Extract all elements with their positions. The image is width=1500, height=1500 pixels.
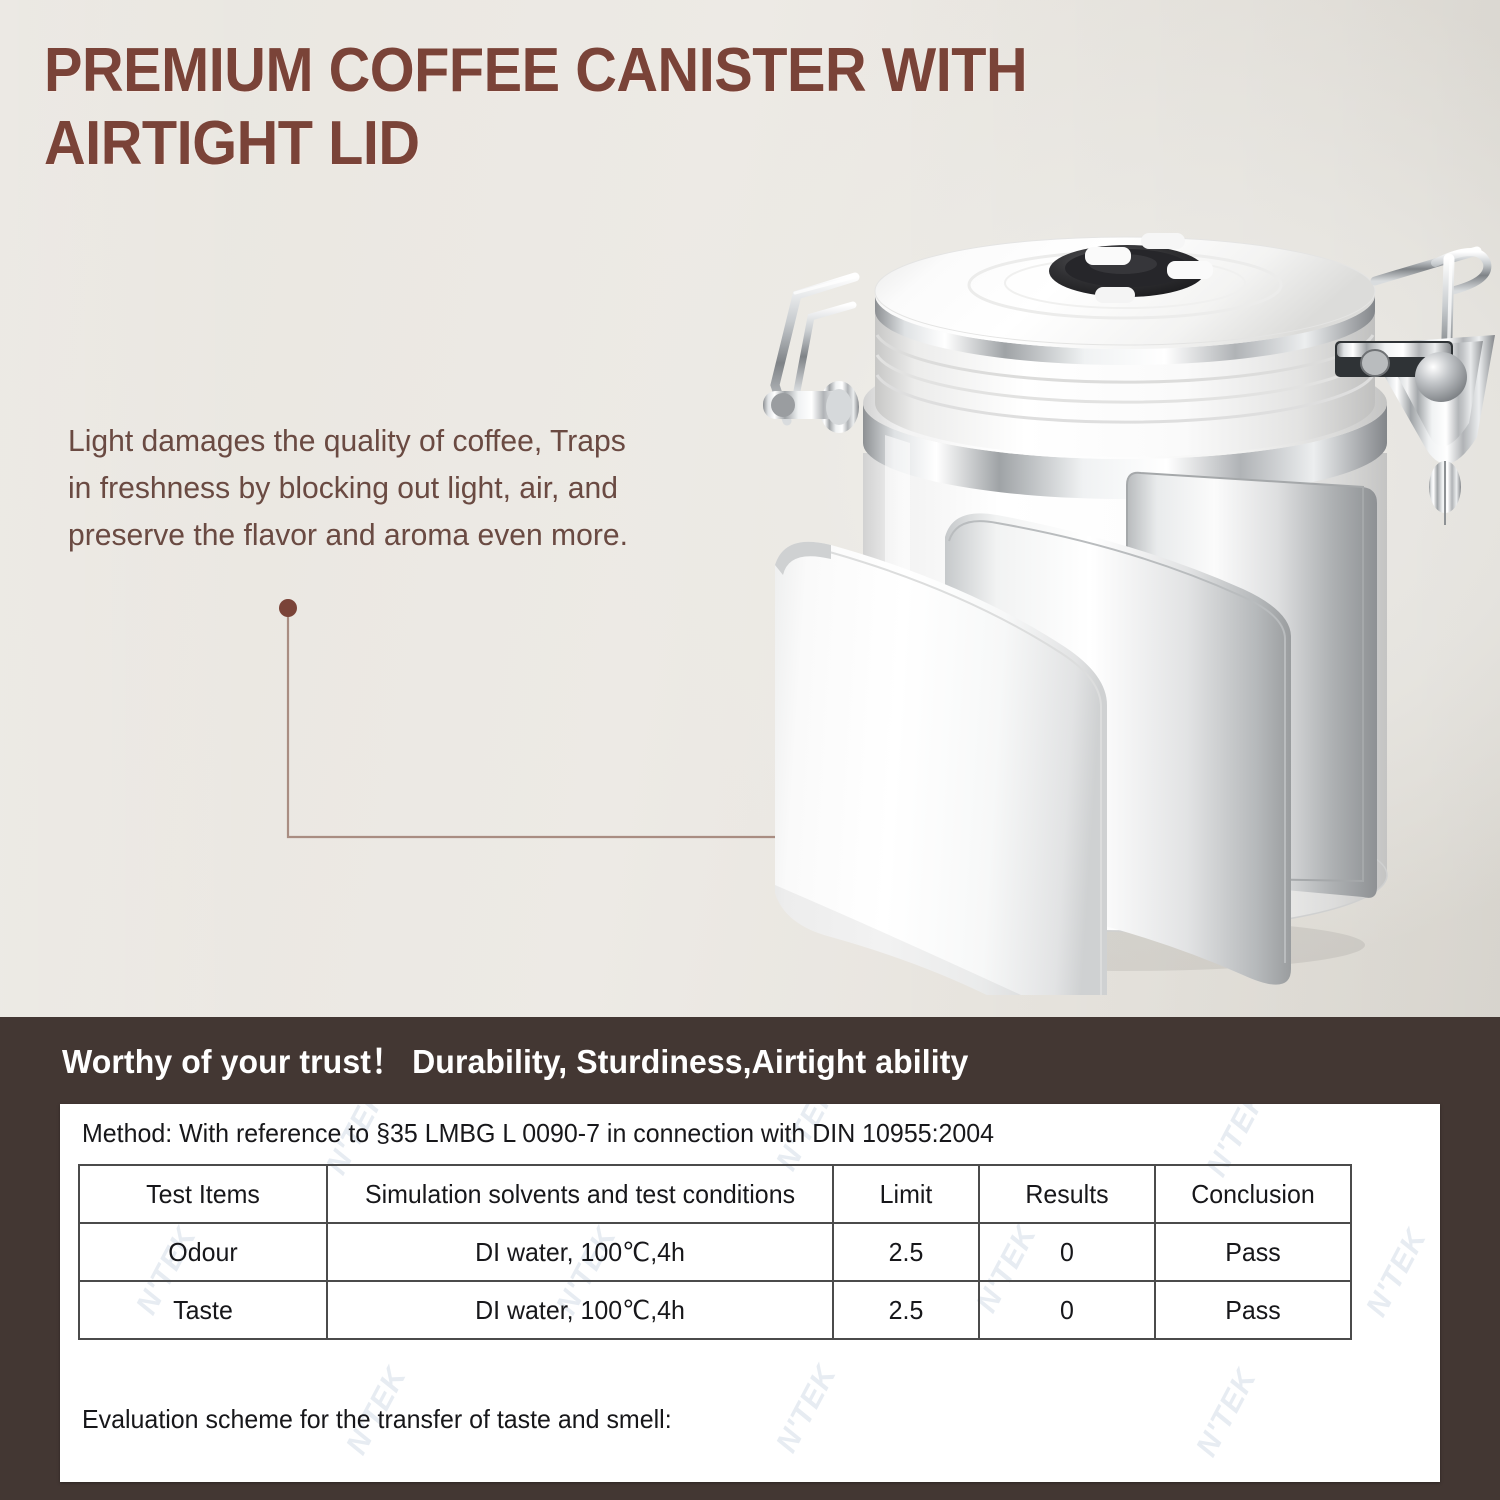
left-wire-clamp (763, 277, 859, 433)
valve-tab (1085, 247, 1131, 265)
cell-limit: 2.5 (836, 1223, 976, 1281)
cell-test-item: Odour (84, 1223, 322, 1281)
trust-heading: Worthy of your trust！ Durability, Sturdi… (62, 1035, 968, 1083)
cell-conclusion: Pass (1159, 1223, 1347, 1281)
test-results-table: Test Items Simulation solvents and test … (78, 1164, 1352, 1340)
valve-tab (1141, 233, 1185, 249)
watermark: N'TEK (1190, 1364, 1264, 1463)
column-header: Conclusion (1159, 1165, 1347, 1223)
watermark: N'TEK (1360, 1224, 1434, 1323)
valve-tab (1095, 287, 1135, 303)
table-header-row: Test Items Simulation solvents and test … (79, 1165, 1351, 1223)
page-title: PREMIUM COFFEE CANISTER WITH AIRTIGHT LI… (44, 34, 1207, 180)
cell-conditions: DI water, 100℃,4h (337, 1223, 823, 1281)
coffee-canister-illustration (735, 185, 1495, 995)
table-row: Odour DI water, 100℃,4h 2.5 0 Pass (79, 1223, 1351, 1281)
test-report-card: N'TEK N'TEK N'TEK N'TEK N'TEK N'TEK N'TE… (60, 1104, 1440, 1482)
column-header: Limit (836, 1165, 976, 1223)
evaluation-note: Evaluation scheme for the transfer of ta… (82, 1404, 672, 1435)
method-line: Method: With reference to §35 LMBG L 009… (82, 1118, 994, 1149)
cell-results: 0 (983, 1281, 1152, 1339)
feature-description: Light damages the quality of coffee, Tra… (68, 417, 650, 558)
column-header: Test Items (84, 1165, 322, 1223)
table-row: Taste DI water, 100℃,4h 2.5 0 Pass (79, 1281, 1351, 1339)
hero-section: PREMIUM COFFEE CANISTER WITH AIRTIGHT LI… (0, 0, 1500, 1017)
cell-limit: 2.5 (836, 1281, 976, 1339)
cell-conditions: DI water, 100℃,4h (337, 1281, 823, 1339)
column-header: Simulation solvents and test conditions (337, 1165, 823, 1223)
cell-test-item: Taste (84, 1281, 322, 1339)
watermark: N'TEK (770, 1360, 844, 1459)
trust-section: Worthy of your trust！ Durability, Sturdi… (0, 1017, 1500, 1500)
callout-dot-text (279, 599, 297, 617)
cell-conclusion: Pass (1159, 1281, 1347, 1339)
valve-tab (1167, 261, 1213, 279)
cell-results: 0 (983, 1223, 1152, 1281)
column-header: Results (983, 1165, 1152, 1223)
